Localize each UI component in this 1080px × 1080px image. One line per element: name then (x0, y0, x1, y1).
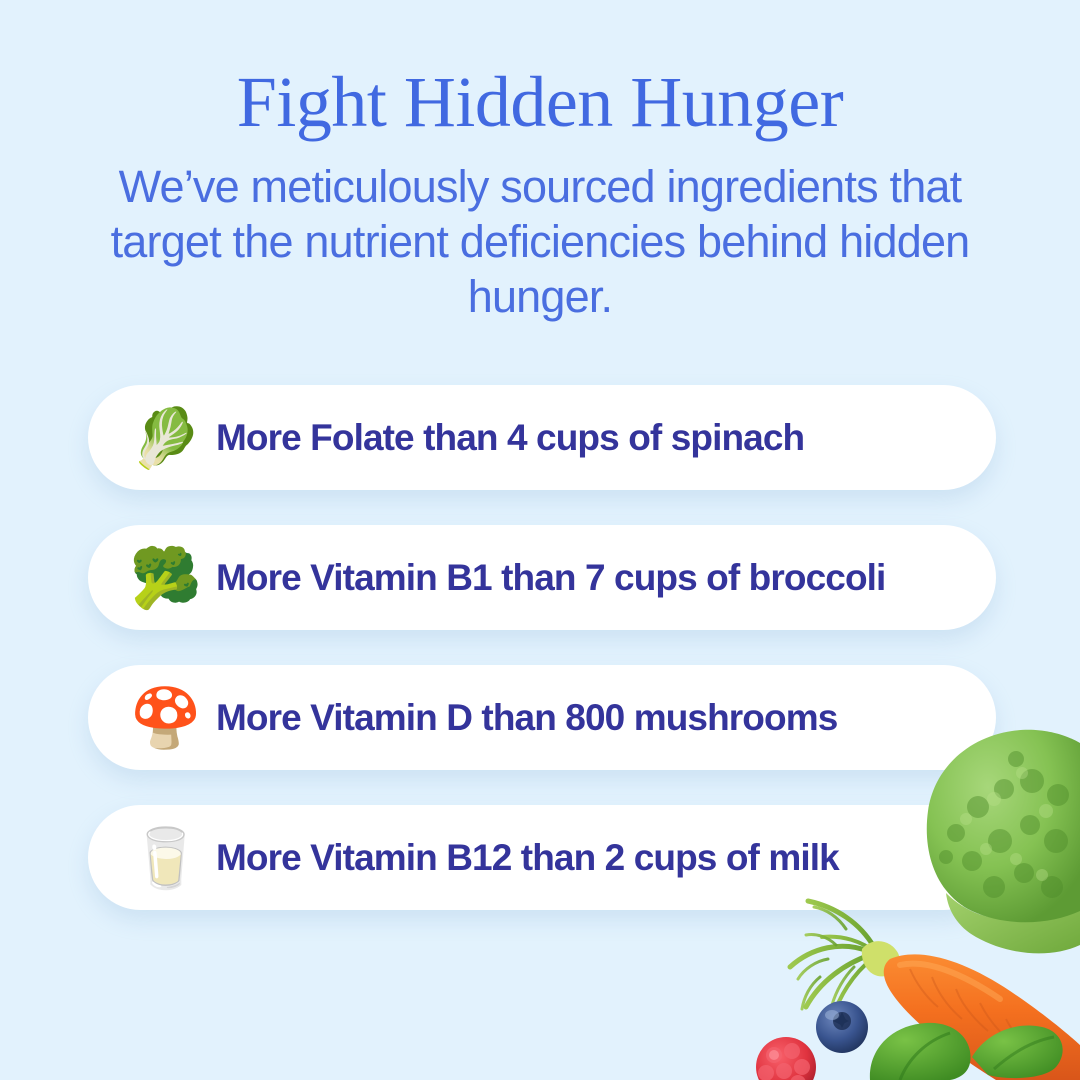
poster-canvas: Fight Hidden Hunger We’ve meticulously s… (0, 0, 1080, 1080)
header: Fight Hidden Hunger We’ve meticulously s… (0, 0, 1080, 325)
claim-card-folate[interactable]: 🥬 More Folate than 4 cups of spinach (88, 385, 996, 490)
claim-card-vitamin-d[interactable]: 🍄 More Vitamin D than 800 mushrooms (88, 665, 996, 770)
spinach-leaf-large (870, 1023, 971, 1080)
glass-of-milk-icon: 🥛 (116, 829, 216, 887)
mushroom-icon: 🍄 (116, 689, 216, 747)
claim-card-vitamin-b1[interactable]: 🥦 More Vitamin B1 than 7 cups of broccol… (88, 525, 996, 630)
page-title: Fight Hidden Hunger (0, 0, 1080, 138)
carrot-crown (862, 941, 900, 976)
claim-card-label: More Vitamin D than 800 mushrooms (216, 697, 996, 739)
leafy-green-icon: 🥬 (116, 409, 216, 467)
spinach-leaf-small (972, 1025, 1063, 1078)
broccoli-icon: 🥦 (116, 549, 216, 607)
carrot-highlight (900, 964, 1000, 999)
claim-card-label: More Vitamin B12 than 2 cups of milk (216, 837, 996, 879)
claim-card-label: More Folate than 4 cups of spinach (216, 417, 996, 459)
claim-card-vitamin-b12[interactable]: 🥛 More Vitamin B12 than 2 cups of milk (88, 805, 996, 910)
claim-card-label: More Vitamin B1 than 7 cups of broccoli (216, 557, 996, 599)
raspberry (756, 1037, 816, 1080)
blueberry (816, 1001, 868, 1053)
carrot-greens (790, 901, 876, 1021)
page-subtitle: We’ve meticulously sourced ingredients t… (60, 138, 1020, 325)
carrot-rings (910, 969, 1042, 1061)
claim-card-list: 🥬 More Folate than 4 cups of spinach 🥦 M… (88, 385, 996, 910)
carrot-body (884, 954, 1080, 1080)
